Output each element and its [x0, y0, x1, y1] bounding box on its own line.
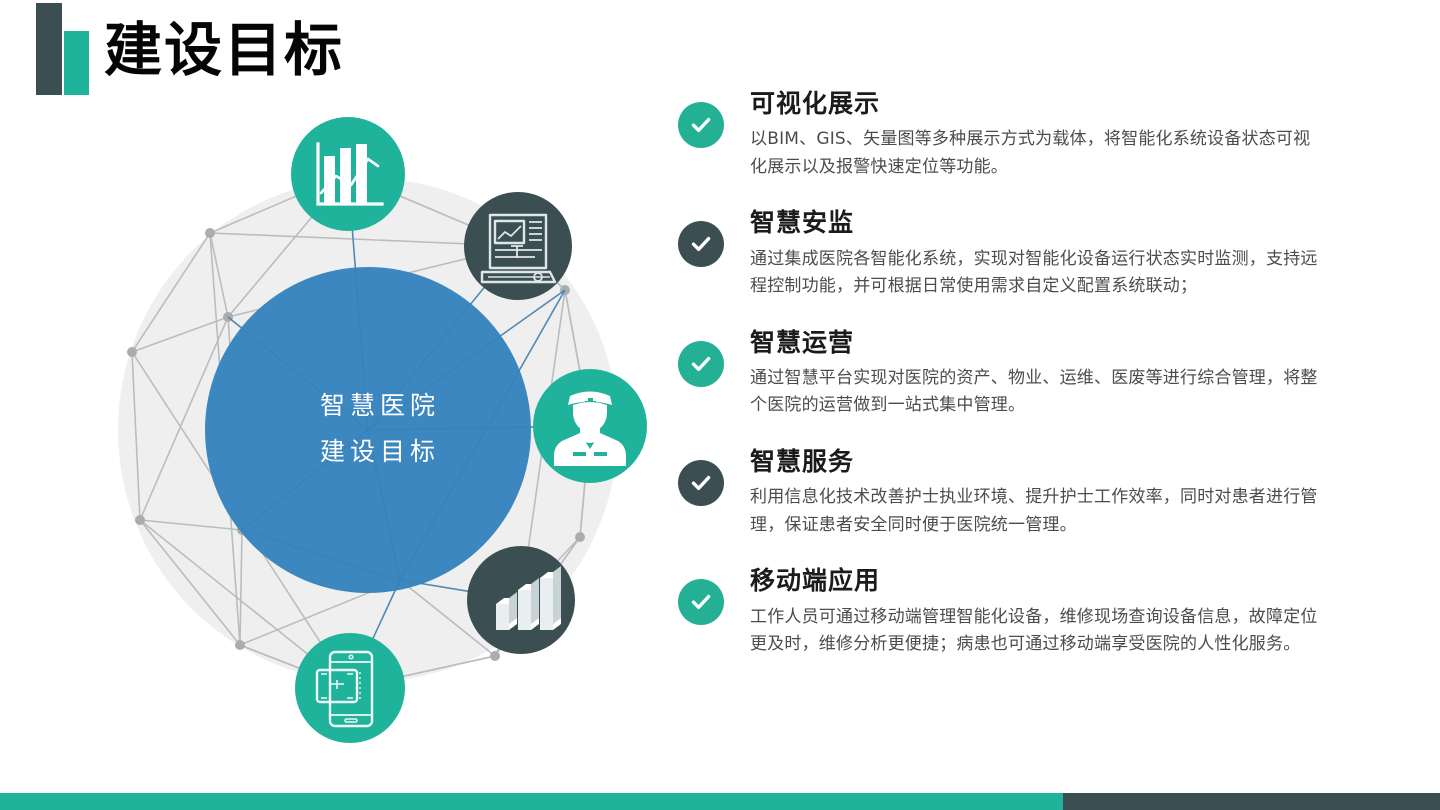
feature-title: 智慧安监 [750, 207, 1318, 238]
hub-and-spoke-diagram: 智慧医院 建设目标 [110, 100, 670, 760]
feature-title: 智慧服务 [750, 446, 1318, 477]
feature-title: 可视化展示 [750, 88, 1318, 119]
feature-item-safety-supervision[interactable]: 智慧安监 通过集成医院各智能化系统，实现对智能化设备运行状态实时监测，支持远程控… [678, 207, 1318, 300]
node-bar-chart[interactable] [467, 546, 575, 654]
checkmark-icon [688, 470, 714, 496]
feature-title: 移动端应用 [750, 565, 1318, 596]
node-mobile[interactable] [295, 633, 405, 743]
footer-bar-left-segment [0, 793, 1063, 810]
feature-title: 智慧运营 [750, 327, 1318, 358]
checkmark-icon [688, 231, 714, 257]
check-circle-icon [678, 579, 724, 625]
check-circle-icon [678, 460, 724, 506]
feature-item-service[interactable]: 智慧服务 利用信息化技术改善护士执业环境、提升护士工作效率，同时对患者进行管理，… [678, 446, 1318, 539]
check-circle-icon [678, 102, 724, 148]
feature-description: 工作人员可通过移动端管理智能化设备，维修现场查询设备信息，故障定位更及时，维修分… [750, 604, 1318, 659]
node-nurse[interactable] [533, 369, 647, 483]
checkmark-icon [688, 112, 714, 138]
footer-bar-right-segment [1063, 793, 1440, 810]
feature-item-operations[interactable]: 智慧运营 通过智慧平台实现对医院的资产、物业、运维、医废等进行综合管理，将整个医… [678, 327, 1318, 420]
node-chart-trend[interactable] [291, 117, 405, 231]
feature-description: 利用信息化技术改善护士执业环境、提升护士工作效率，同时对患者进行管理，保证患者安… [750, 484, 1318, 539]
feature-item-visualization[interactable]: 可视化展示 以BIM、GIS、矢量图等多种展示方式为载体，将智能化系统设备状态可… [678, 88, 1318, 181]
checkmark-icon [688, 351, 714, 377]
feature-list: 可视化展示 以BIM、GIS、矢量图等多种展示方式为载体，将智能化系统设备状态可… [678, 88, 1318, 685]
footer-bar [0, 793, 1440, 810]
check-circle-icon [678, 221, 724, 267]
title-accent-bar-dark [36, 3, 62, 95]
feature-description: 通过集成医院各智能化系统，实现对智能化设备运行状态实时监测，支持远程控制功能，并… [750, 246, 1318, 301]
page-title: 建设目标 [104, 21, 344, 79]
checkmark-icon [688, 589, 714, 615]
check-circle-icon [678, 341, 724, 387]
diagram-canvas [110, 100, 670, 760]
feature-description: 通过智慧平台实现对医院的资产、物业、运维、医废等进行综合管理，将整个医院的运营做… [750, 365, 1318, 420]
feature-description: 以BIM、GIS、矢量图等多种展示方式为载体，将智能化系统设备状态可视化展示以及… [750, 126, 1318, 181]
node-blueprint[interactable] [464, 192, 572, 300]
title-accent-bar-teal [64, 31, 89, 95]
feature-item-mobile-app[interactable]: 移动端应用 工作人员可通过移动端管理智能化设备，维修现场查询设备信息，故障定位更… [678, 565, 1318, 658]
